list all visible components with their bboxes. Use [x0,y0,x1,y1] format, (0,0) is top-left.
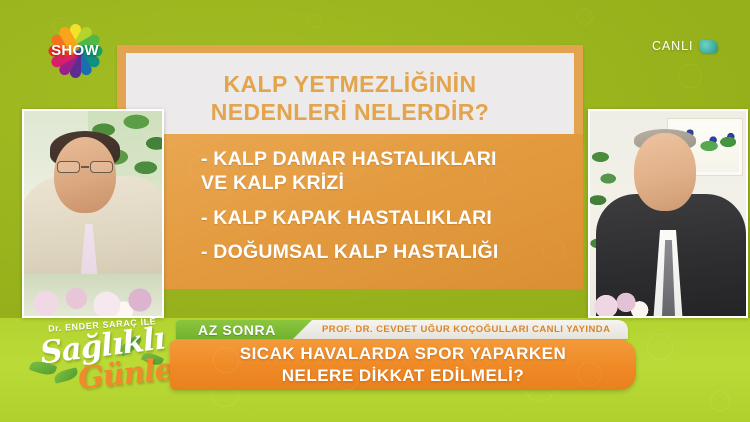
list-item: - KALP KAPAK HASTALIKLARI [201,207,583,231]
headline-line-2: NELERE DİKKAT EDİLMELİ? [282,366,525,387]
headline-bar: SICAK HAVALARDA SPOR YAPARKEN NELERE DİK… [170,340,636,390]
bullet-panel: - KALP DAMAR HASTALIKLARI VE KALP KRİZİ … [160,134,583,289]
leaf-icon [53,367,79,383]
ticker-bar: AZ SONRA PROF. DR. CEVDET UĞUR KOÇOĞULLA… [176,320,628,339]
list-item: - DOĞUMSAL KALP HASTALIĞI [201,241,583,265]
channel-logo: SHOW [44,22,106,80]
broadcast-stage: SHOW CANLI KALP YETMEZLİĞİNİN NEDENLERİ … [0,0,750,422]
video-panel-right [588,109,748,318]
live-badge: CANLI [652,39,718,53]
title-line-1: KALP YETMEZLİĞİNİN [224,72,477,98]
title-card-inner: KALP YETMEZLİĞİNİN NEDENLERİ NELERDİR? [126,53,574,145]
title-line-2: NEDENLERİ NELERDİR? [211,100,490,126]
title-card: KALP YETMEZLİĞİNİN NEDENLERİ NELERDİR? [117,45,583,145]
video-panel-left [22,109,164,318]
live-teal-mark-icon [699,40,718,53]
program-logo: Dr. ENDER SARAÇ İLE Sağlıklı Günler [26,318,174,396]
coming-up-label: AZ SONRA [198,322,276,338]
host-face [54,137,116,213]
channel-logo-text: SHOW [44,42,106,59]
guest-credit-text: PROF. DR. CEVDET UĞUR KOÇOĞULLARI CANLI … [322,320,610,339]
glasses-icon [56,161,114,174]
flower-arrangement-right [590,282,652,316]
flower-arrangement-left [24,274,162,316]
bullet-list: - KALP DAMAR HASTALIKLARI VE KALP KRİZİ … [160,148,583,265]
list-item: - KALP DAMAR HASTALIKLARI VE KALP KRİZİ [201,148,583,196]
live-label: CANLI [652,39,693,53]
coming-up-chip: AZ SONRA [176,320,312,339]
headline-line-1: SICAK HAVALARDA SPOR YAPARKEN [240,344,567,365]
guest-face [634,133,696,211]
